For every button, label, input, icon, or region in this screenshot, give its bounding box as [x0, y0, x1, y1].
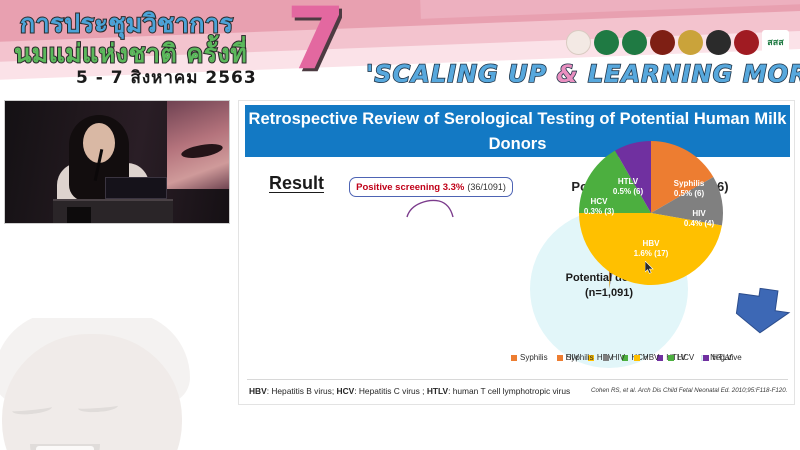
logo-gold-emblem — [678, 30, 703, 55]
conference-edition-number: 7 — [286, 0, 346, 82]
legend-item-hbv: HBV — [634, 353, 659, 362]
footnote-htlv-abbr: HTLV — [427, 386, 448, 396]
source-citation: Cohen RS, et al. Arch Dis Child Fetal Ne… — [591, 387, 787, 394]
footnote-hbv-text: : Hepatitis B virus; — [267, 386, 337, 396]
legend-label-syphilis: Syphilis — [520, 353, 548, 362]
footnote-hbv-abbr: HBV — [249, 386, 267, 396]
mouse-cursor-icon — [645, 261, 654, 274]
tagline-part-after: LEARNING MORE' — [579, 60, 800, 88]
legend-label-hcv: HCV — [677, 353, 694, 362]
callout-highlight-text: Positive screening 3.3% — [356, 182, 464, 193]
podium-panel — [67, 207, 91, 224]
logo-black-emblem — [706, 30, 731, 55]
legend-swatch-hbv — [634, 355, 640, 361]
positive-screening-legend: Syphilis HIV HBV HCV HTLV — [557, 353, 732, 362]
legend-swatch-syphilis — [557, 355, 563, 361]
sponsor-logo-row: สสส — [566, 26, 796, 58]
legend-swatch-hiv — [603, 355, 609, 361]
laptop-on-podium — [105, 177, 167, 199]
callout-connector — [399, 197, 459, 219]
baby-teeth — [36, 446, 94, 450]
speaker-video-thumbnail[interactable] — [4, 100, 230, 224]
legend-label-hiv: HIV — [612, 353, 625, 362]
pie-slice-hbv — [579, 213, 722, 285]
footnote-hcv-text: : Hepatitis C virus ; — [354, 386, 427, 396]
footnote-htlv-text: : human T cell lymphotropic virus — [448, 386, 570, 396]
logo-green-health-1 — [594, 30, 619, 55]
legend-item-hiv: HIV — [603, 353, 625, 362]
legend-item-syphilis: Syphilis — [557, 353, 594, 362]
screenshot-root: การประชุมวิชาการ นมแม่แห่งชาติ ครั้งที่ … — [0, 0, 800, 450]
legend-swatch-syphilis — [511, 355, 517, 361]
conference-tagline: 'SCALING UP & LEARNING MORE' — [366, 60, 800, 88]
presentation-slide[interactable]: Retrospective Review of Serological Test… — [238, 100, 795, 405]
positive-screening-pie-chart: Syphilis 0.5% (6) HIV 0.4% (4) HBV 1.6% … — [575, 137, 727, 289]
baby-watermark-image — [0, 318, 232, 450]
legend-swatch-hcv — [668, 355, 674, 361]
legend-label-syphilis: Syphilis — [566, 353, 594, 362]
legend-label-htlv: HTLV — [712, 353, 732, 362]
logo-green-health-2 — [622, 30, 647, 55]
logo-red-emblem — [734, 30, 759, 55]
conference-banner: การประชุมวิชาการ นมแม่แห่งชาติ ครั้งที่ … — [0, 0, 800, 96]
legend-item-hcv: HCV — [668, 353, 694, 362]
footnote-divider — [247, 379, 788, 380]
legend-item-htlv: HTLV — [703, 353, 732, 362]
footnote-hcv-abbr: HCV — [337, 386, 355, 396]
legend-label-hbv: HBV — [643, 353, 659, 362]
legend-swatch-htlv — [703, 355, 709, 361]
tagline-ampersand: & — [557, 60, 579, 88]
conference-date: 5 - 7 สิงหาคม 2563 — [76, 64, 257, 91]
logo-thaihealth: สสส — [762, 30, 789, 55]
result-heading: Result — [269, 173, 324, 194]
flow-arrow-icon — [735, 287, 791, 335]
logo-royal-seal — [566, 30, 591, 55]
positive-screening-callout: Positive screening 3.3% (36/1091) — [349, 177, 513, 197]
callout-detail-text: (36/1091) — [467, 182, 506, 192]
tagline-part-before: 'SCALING UP — [366, 60, 557, 88]
legend-item-syphilis: Syphilis — [511, 353, 548, 362]
logo-maroon-emblem — [650, 30, 675, 55]
